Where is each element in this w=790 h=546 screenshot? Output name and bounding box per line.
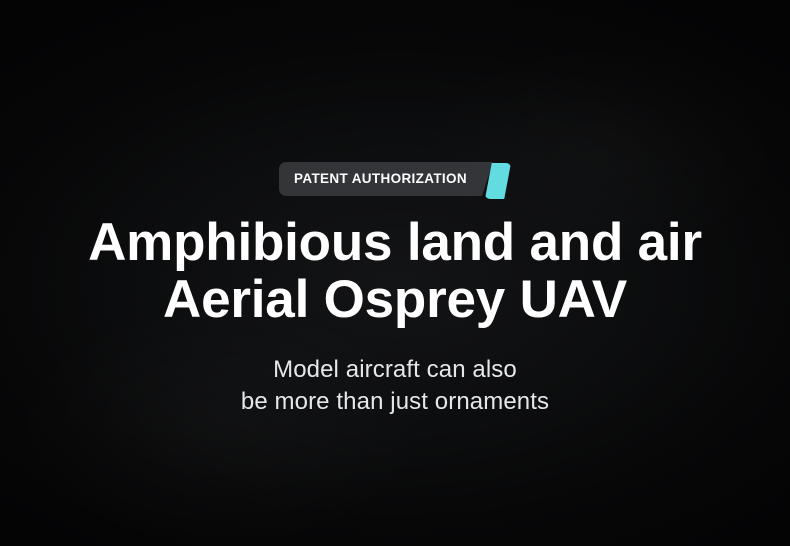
headline-line-1: Amphibious land and air <box>88 214 702 271</box>
subtitle-line-1: Model aircraft can also <box>241 354 549 385</box>
banner-content: PATENT AUTHORIZATION Amphibious land and… <box>0 0 790 546</box>
headline-line-2: Aerial Osprey UAV <box>88 271 702 328</box>
page-title: Amphibious land and air Aerial Osprey UA… <box>88 214 702 328</box>
hero-banner: PATENT AUTHORIZATION Amphibious land and… <box>0 0 790 546</box>
subtitle-line-2: be more than just ornaments <box>241 386 549 417</box>
page-subtitle: Model aircraft can also be more than jus… <box>241 354 549 416</box>
patent-authorization-badge: PATENT AUTHORIZATION <box>279 162 511 198</box>
badge-plate: PATENT AUTHORIZATION <box>279 162 493 196</box>
badge-label: PATENT AUTHORIZATION <box>294 172 467 186</box>
